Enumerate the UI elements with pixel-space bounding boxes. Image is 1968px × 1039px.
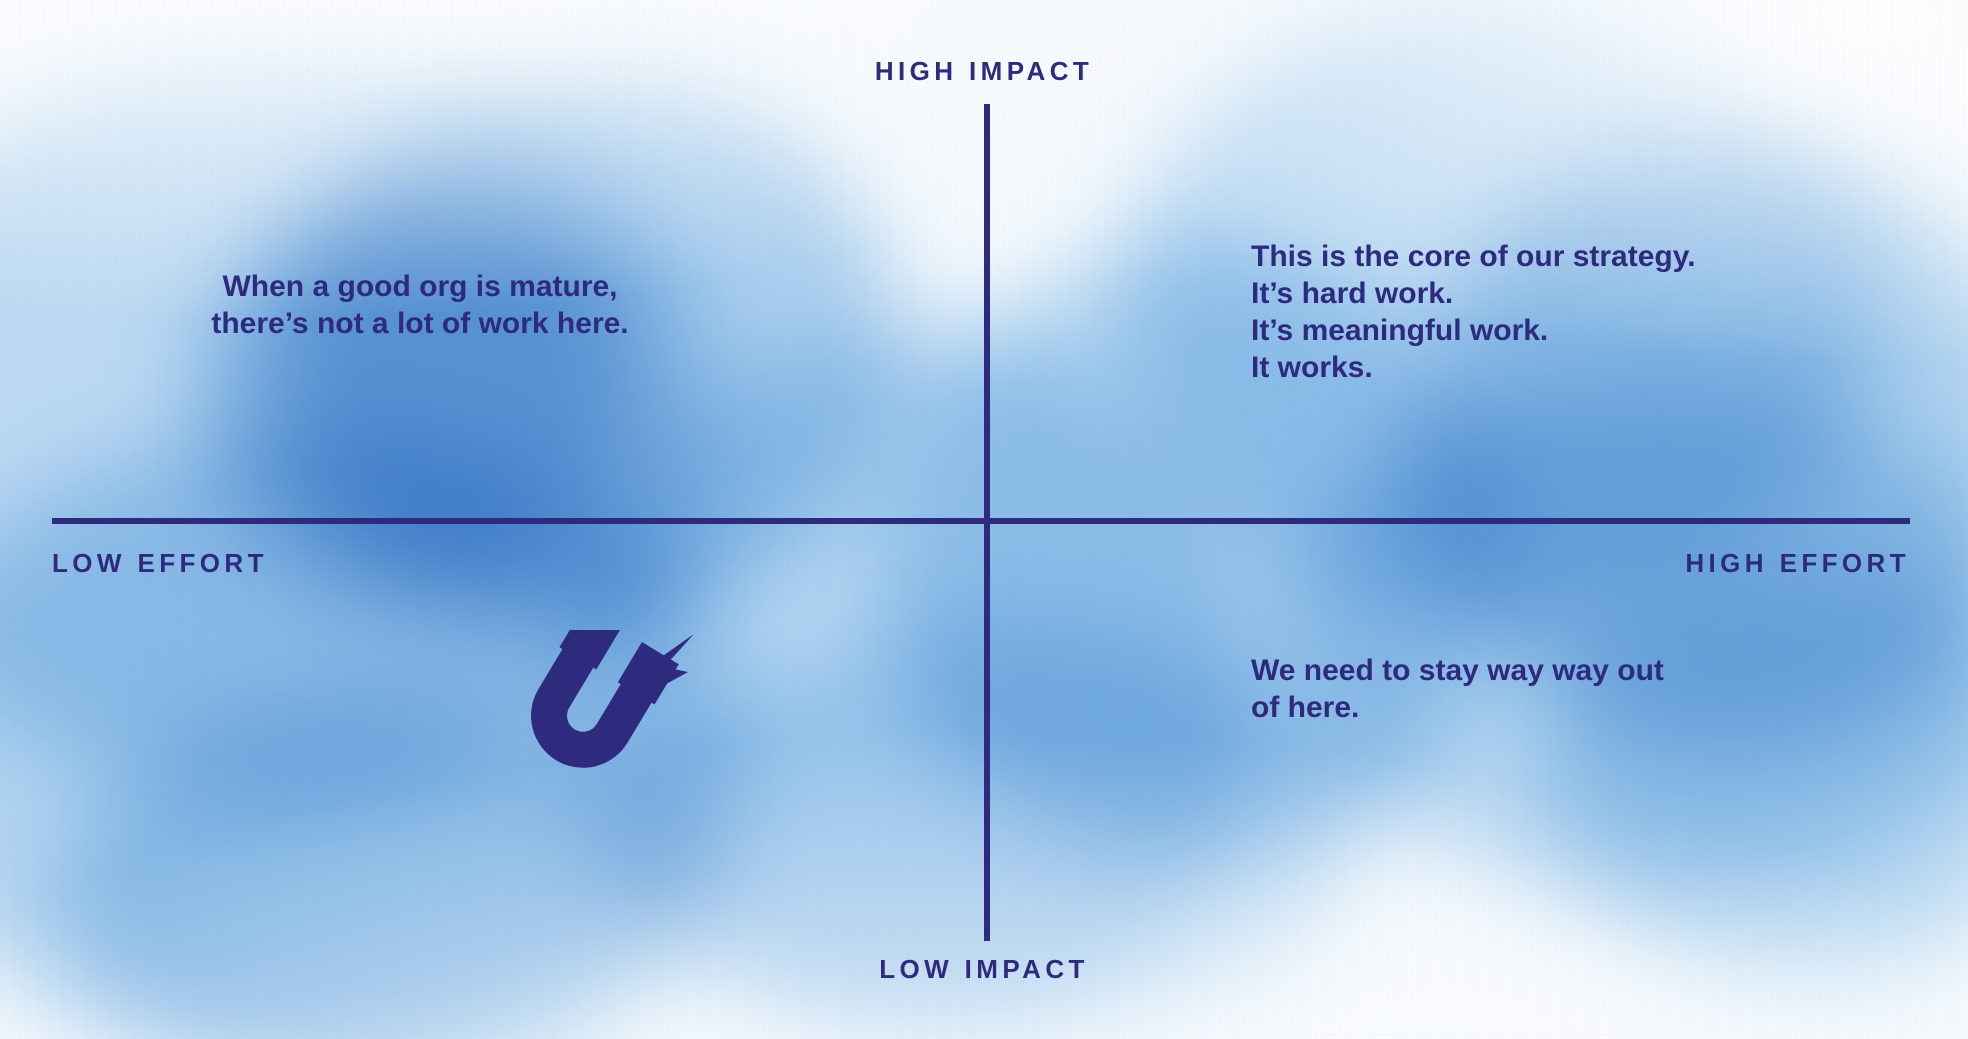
- impact-axis-line: [984, 104, 990, 941]
- axis-label-high-impact: HIGH IMPACT: [0, 56, 1968, 87]
- quadrant-annotation-top-left: When a good org is mature, there’s not a…: [120, 268, 720, 342]
- effort-axis-line: [52, 518, 1910, 524]
- wash-blob: [200, 180, 640, 600]
- magnet-icon: [498, 630, 708, 830]
- axis-label-high-effort: HIGH EFFORT: [0, 548, 1910, 579]
- impact-effort-matrix: HIGH IMPACT LOW IMPACT LOW EFFORT HIGH E…: [0, 0, 1968, 1039]
- quadrant-annotation-bottom-right: We need to stay way way out of here.: [1251, 652, 1871, 726]
- axis-label-low-impact: LOW IMPACT: [0, 954, 1968, 985]
- quadrant-annotation-top-right: This is the core of our strategy. It’s h…: [1251, 238, 1891, 386]
